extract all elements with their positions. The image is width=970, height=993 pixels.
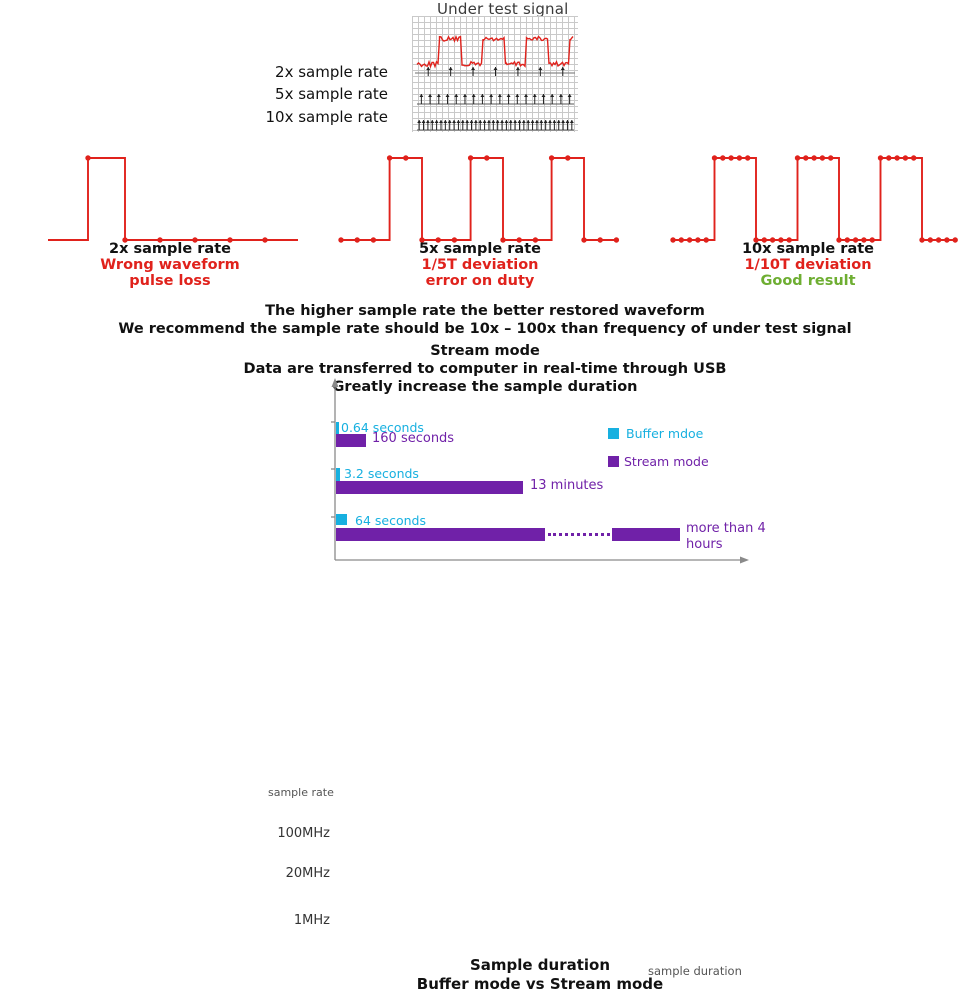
stream-mode-heading: Stream mode — [0, 343, 970, 359]
value-stream-1mhz-line2: hours — [686, 537, 770, 553]
legend-item-buffer[interactable]: Buffer mdoe — [608, 426, 703, 441]
x-axis-arrow — [740, 557, 749, 564]
waveform-plot-10x — [665, 140, 960, 250]
y-tick-label-20mhz: 20MHz — [262, 866, 330, 881]
sample-ticks-2x — [426, 67, 565, 76]
x-axis-title: Sample duration — [330, 956, 750, 974]
bar-stream-1mhz-left — [336, 528, 545, 541]
legend-swatch-buffer — [608, 428, 619, 439]
legend-item-stream[interactable]: Stream mode — [608, 454, 709, 469]
bar-stream-100mhz — [336, 434, 366, 447]
reconstructed-waveforms-row: 2x sample rate Wrong waveform pulse loss… — [0, 140, 970, 300]
waveform-caption-2x: 2x sample rate Wrong waveform pulse loss — [30, 241, 310, 289]
waveform-plot-2x — [40, 140, 330, 250]
caption-note1-5x: 1/5T deviation — [340, 257, 620, 273]
under-test-signal-plot — [412, 16, 578, 132]
value-stream-1mhz: more than 4 hours — [686, 521, 770, 553]
y-tick-label-1mhz: 1MHz — [262, 913, 330, 928]
waveform-caption-10x: 10x sample rate 1/10T deviation Good res… — [668, 241, 948, 289]
caption-note2-10x: Good result — [668, 273, 948, 289]
bar-stream-20mhz — [336, 481, 523, 494]
recommendation-line-1: The higher sample rate the better restor… — [0, 303, 970, 319]
legend-label-stream: Stream mode — [624, 454, 709, 469]
waveform-2x-trace — [48, 155, 298, 242]
waveform-10x-trace — [670, 155, 958, 242]
value-stream-20mhz: 13 minutes — [530, 478, 603, 493]
caption-note1-2x: Wrong waveform — [30, 257, 310, 273]
sample-ticks-10x — [417, 120, 574, 130]
bar-buffer-1mhz — [336, 514, 347, 525]
bar-stream-1mhz-break — [548, 533, 610, 536]
rate-label-5x: 5x sample rate — [148, 85, 388, 103]
legend-label-buffer: Buffer mdoe — [626, 426, 703, 441]
value-stream-1mhz-line1: more than 4 — [686, 521, 770, 537]
waveform-5x-trace — [338, 155, 619, 242]
buffer-vs-stream-chart: sample rate 100MHz 20MHz 1MHz 0.64 secon… — [0, 390, 970, 600]
sample-ticks-5x — [417, 94, 574, 104]
caption-note2-2x: pulse loss — [30, 273, 310, 289]
y-axis-arrow — [332, 378, 339, 387]
under-test-signal-section: Under test signal 2x sample rate 5x samp… — [0, 0, 970, 140]
caption-note2-5x: error on duty — [340, 273, 620, 289]
bar-buffer-20mhz — [336, 468, 340, 481]
noisy-square-wave-trace — [417, 37, 573, 67]
caption-note1-10x: 1/10T deviation — [668, 257, 948, 273]
value-buffer-1mhz: 64 seconds — [355, 513, 426, 528]
value-buffer-20mhz: 3.2 seconds — [344, 466, 419, 481]
bar-stream-1mhz-right — [612, 528, 680, 541]
y-axis-title: sample rate — [268, 786, 338, 799]
caption-rate-2x: 2x sample rate — [30, 241, 310, 257]
legend-swatch-stream — [608, 456, 619, 467]
waveform-plot-5x — [335, 140, 635, 250]
chart-caption: Buffer mode vs Stream mode — [330, 975, 750, 993]
recommendation-line-2: We recommend the sample rate should be 1… — [0, 321, 970, 337]
rate-label-10x: 10x sample rate — [148, 108, 388, 126]
caption-rate-5x: 5x sample rate — [340, 241, 620, 257]
value-stream-100mhz: 160 seconds — [372, 431, 454, 446]
y-tick-label-100mhz: 100MHz — [262, 826, 330, 841]
caption-rate-10x: 10x sample rate — [668, 241, 948, 257]
rate-label-2x: 2x sample rate — [148, 63, 388, 81]
waveform-caption-5x: 5x sample rate 1/5T deviation error on d… — [340, 241, 620, 289]
